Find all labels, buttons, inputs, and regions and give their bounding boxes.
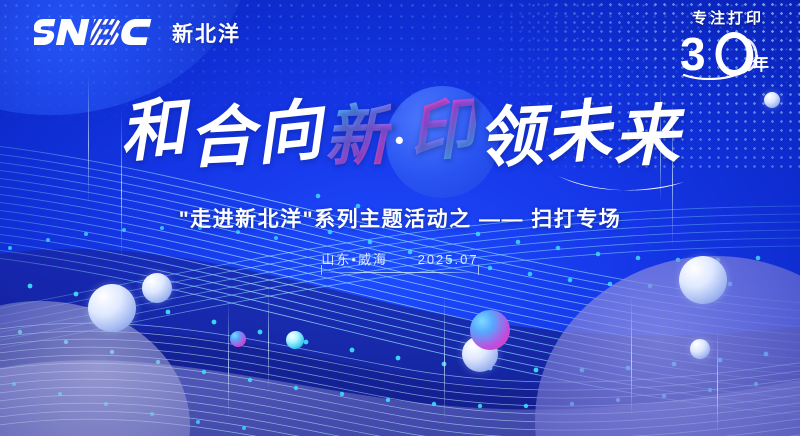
title-char-3: 新 [322,98,393,178]
meta-tick-left [321,265,322,275]
meta-underline [321,272,478,273]
title-char-2: 向 [252,92,328,177]
meta-tick-right [478,265,479,275]
title-char-8: 来 [611,98,682,178]
subtitle: "走进新北洋"系列主题活动之 —— 扫打专场 [0,203,800,233]
banner-canvas: 新北洋 专注打印 3 年 和合向新·印领未来 "走 [0,0,800,436]
anniversary-badge: 专注打印 3 年 [670,10,786,78]
brand-logo-chinese: 新北洋 [172,18,241,48]
title-char-separator: · [392,116,409,165]
event-meta-inner: 山东•威海 2025.07 [321,249,478,273]
title-char-1: 合 [186,98,258,179]
event-meta-line: 山东•威海 2025.07 [0,249,800,273]
main-title: 和合向新·印领未来 [0,96,800,180]
anniversary-30-years-icon: 3 年 [676,28,780,80]
svg-text:3: 3 [680,28,706,80]
title-char-0: 和 [116,90,191,174]
title-char-5: 印 [405,90,480,174]
anniversary-number-row: 3 年 [670,28,786,78]
brand-logo[interactable]: 新北洋 [34,16,241,50]
title-char-6: 领 [475,98,547,179]
meta-separator [394,252,418,267]
svg-text:年: 年 [752,54,769,74]
event-date: 2025.07 [418,252,479,267]
event-location: 山东•威海 [321,252,388,267]
title-char-7: 未 [541,92,617,177]
title-swoosh-icon [556,170,686,198]
snbc-wordmark-icon [34,16,160,50]
anniversary-tagline: 专注打印 [670,10,786,27]
